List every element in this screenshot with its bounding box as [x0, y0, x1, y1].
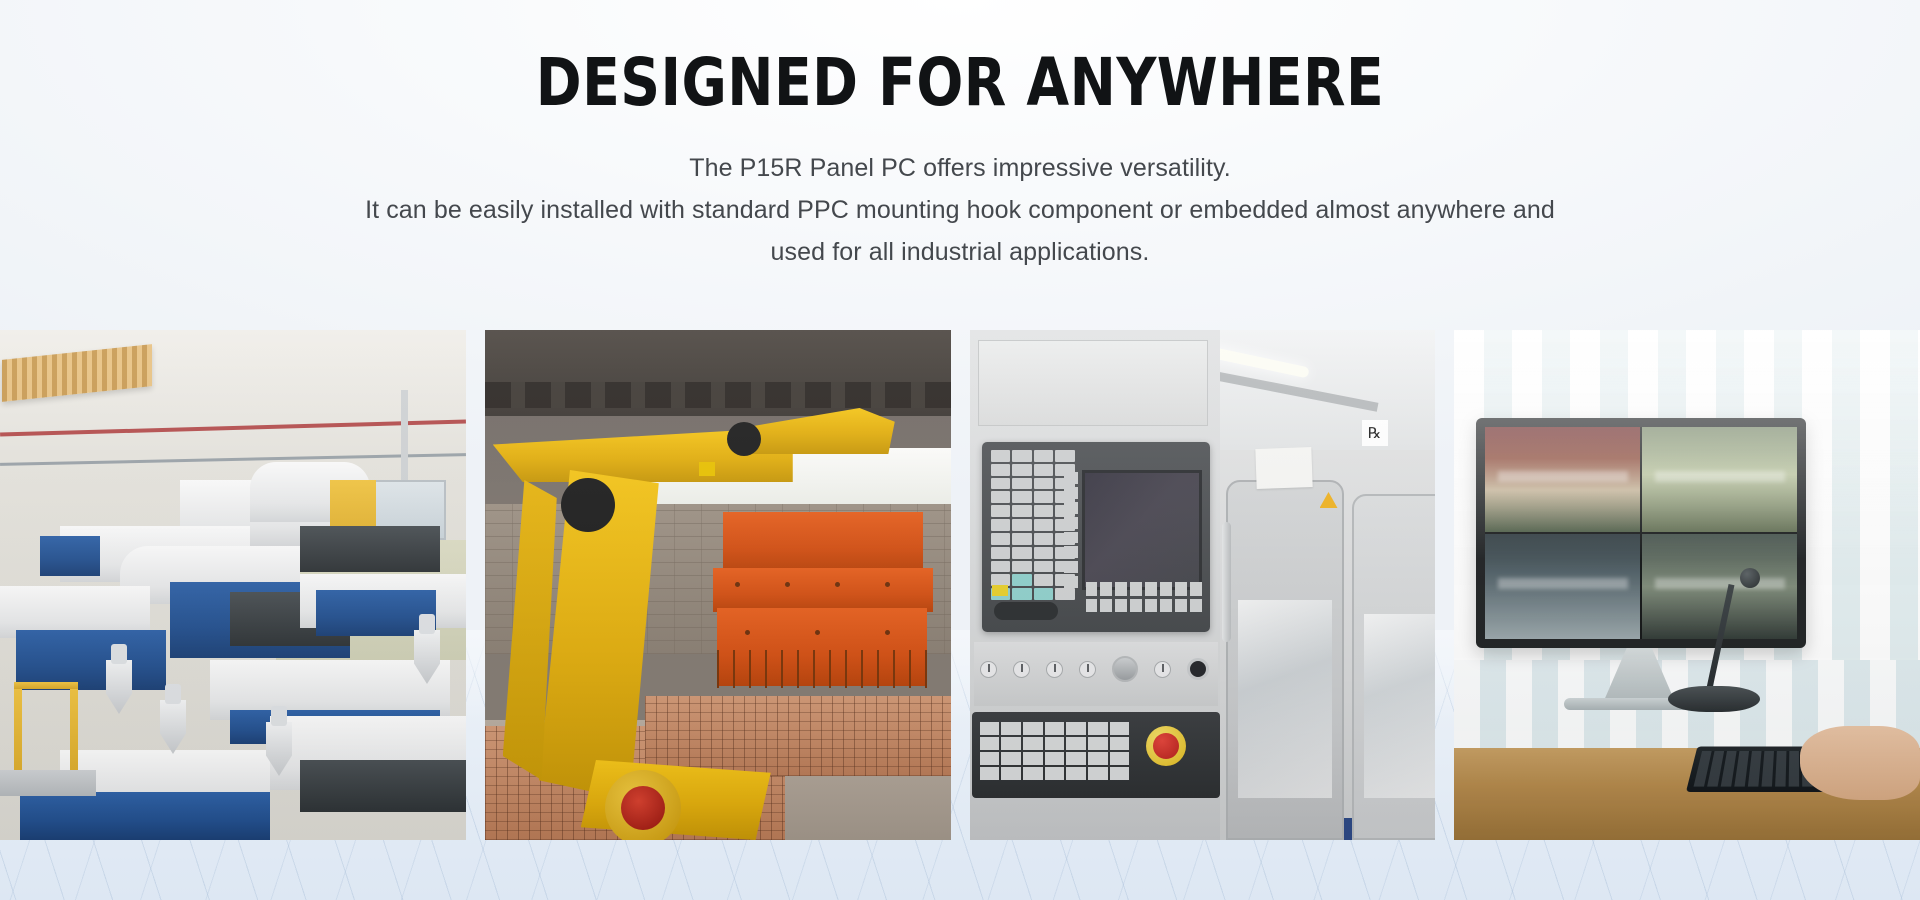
gallery-image-cnc-machine-hmi: ℞	[970, 330, 1436, 840]
hmi-alarm-key[interactable]	[992, 585, 1008, 596]
indicator-lamp	[1079, 661, 1096, 678]
machine-keypad[interactable]	[980, 722, 1130, 780]
application-gallery: ℞	[0, 330, 1920, 840]
machine-indicator-row	[980, 654, 1210, 684]
hmi-softkeys[interactable]	[1064, 472, 1078, 588]
gallery-image-surveillance-workstation	[1454, 330, 1920, 840]
emergency-stop-button[interactable]	[1146, 726, 1186, 766]
indicator-lamp	[1013, 661, 1030, 678]
hmi-power-switch[interactable]	[994, 602, 1058, 620]
hmi-display	[1082, 470, 1202, 590]
gallery-image-injection-molding-factory	[0, 330, 466, 840]
hmi-keypad[interactable]	[991, 450, 1075, 600]
indicator-lamp	[980, 661, 997, 678]
selector-switch[interactable]	[1187, 658, 1209, 680]
page-title: DESIGNED FOR ANYWHERE	[67, 44, 1853, 121]
machine-logo-icon: ℞	[1362, 420, 1388, 446]
gallery-image-palletizing-robot	[485, 330, 951, 840]
subtitle-line-2: It can be easily installed with standard…	[0, 189, 1920, 231]
hmi-function-keys[interactable]	[1086, 582, 1202, 612]
rotary-knob[interactable]	[1112, 656, 1138, 682]
subtitle-line-1: The P15R Panel PC offers impressive vers…	[0, 147, 1920, 189]
page-subtitle: The P15R Panel PC offers impressive vers…	[0, 147, 1920, 273]
hero-header: DESIGNED FOR ANYWHERE The P15R Panel PC …	[0, 0, 1920, 273]
subtitle-line-3: used for all industrial applications.	[0, 231, 1920, 273]
indicator-lamp	[1154, 661, 1171, 678]
hmi-panel	[982, 442, 1210, 632]
indicator-lamp	[1046, 661, 1063, 678]
